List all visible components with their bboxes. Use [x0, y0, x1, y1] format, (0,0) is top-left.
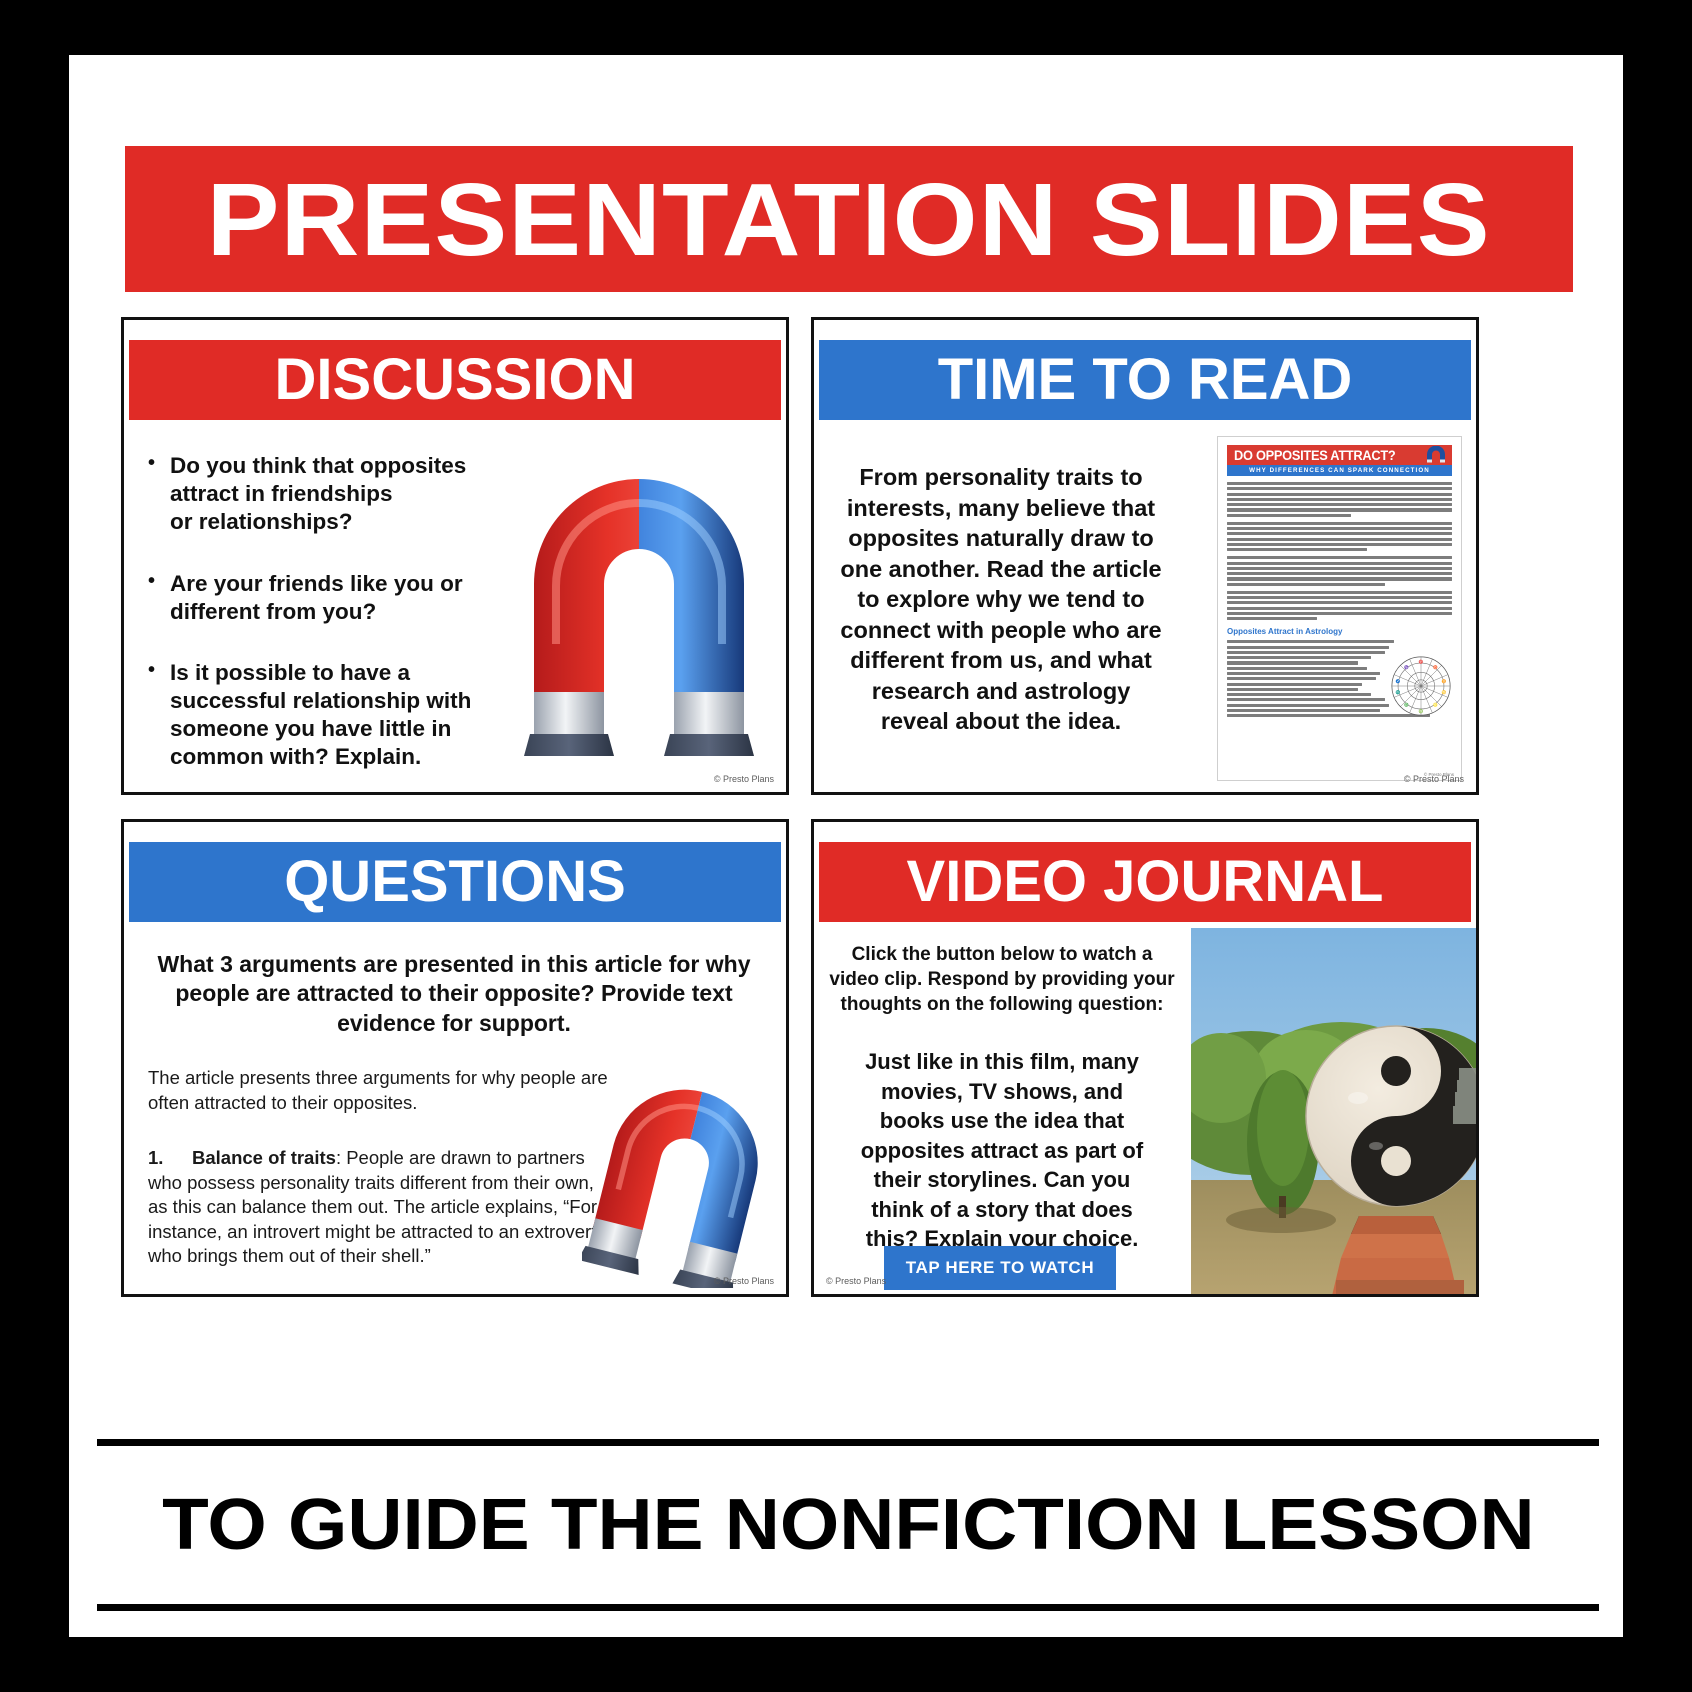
slide-video-journal[interactable]: VIDEO JOURNAL Click the button below to …: [811, 819, 1479, 1297]
svg-text:♊: ♊: [1442, 679, 1447, 684]
article-paragraph: [1227, 591, 1452, 621]
bullet-line: someone you have little in: [170, 716, 451, 741]
slide-time-to-read[interactable]: TIME TO READ From personality traits to …: [811, 317, 1479, 795]
svg-text:♉: ♉: [1433, 665, 1438, 670]
bullet-line: or relationships?: [170, 509, 353, 534]
article-headline-bar: DO OPPOSITES ATTRACT?: [1227, 445, 1452, 465]
yin-yang-sculpture-photo: [1191, 928, 1476, 1297]
tap-here-to-watch-button[interactable]: TAP HERE TO WATCH: [884, 1246, 1116, 1290]
slide-questions-body: What 3 arguments are presented in this a…: [124, 928, 786, 1294]
horseshoe-magnet-icon: [504, 434, 774, 764]
bullet-line: attract in friendships: [170, 481, 393, 506]
slides-grid: DISCUSSION Do you think that opposites a…: [121, 317, 1577, 1345]
article-magnet-icon: [1424, 446, 1448, 463]
questions-answer-item: 1. Balance of traits: People are drawn t…: [148, 1146, 618, 1269]
bullet-line: different from you?: [170, 599, 376, 624]
slide-time-to-read-title: TIME TO READ: [938, 351, 1353, 409]
slide-discussion[interactable]: DISCUSSION Do you think that opposites a…: [121, 317, 789, 795]
watermark: © Presto Plans: [826, 1276, 886, 1286]
discussion-bullet-1: Do you think that opposites attract in f…: [146, 452, 486, 536]
article-body: Opposites Attract in Astrology: [1227, 482, 1452, 717]
bullet-line: successful relationship with: [170, 688, 471, 713]
svg-text:♍: ♍: [1419, 709, 1424, 714]
discussion-bullet-list: Do you think that opposites attract in f…: [146, 452, 486, 795]
slide-time-to-read-header: TIME TO READ: [819, 340, 1471, 420]
slide-discussion-header: DISCUSSION: [129, 340, 781, 420]
slide-discussion-body: Do you think that opposites attract in f…: [124, 426, 786, 792]
svg-text:♏: ♏: [1396, 690, 1401, 695]
bullet-line: common with? Explain.: [170, 744, 421, 769]
slide-questions-title: QUESTIONS: [284, 853, 626, 911]
article-headline: DO OPPOSITES ATTRACT?: [1234, 448, 1395, 463]
bullet-line: Is it possible to have a: [170, 660, 410, 685]
article-paragraph: [1227, 482, 1452, 517]
slide-video-journal-body: Click the button below to watch a video …: [814, 928, 1476, 1294]
slide-discussion-title: DISCUSSION: [275, 351, 636, 409]
poster-inner: PRESENTATION SLIDES DISCUSSION Do you th…: [83, 69, 1613, 1627]
watermark: © Presto Plans: [714, 774, 774, 784]
poster-frame: PRESENTATION SLIDES DISCUSSION Do you th…: [66, 52, 1626, 1640]
slide-questions[interactable]: QUESTIONS What 3 arguments are presented…: [121, 819, 789, 1297]
answer-body: Balance of traits: People are drawn to p…: [148, 1147, 597, 1266]
answer-label: Balance of traits: [192, 1147, 336, 1168]
svg-text:♑: ♑: [1404, 665, 1409, 670]
watermark: © Presto Plans: [714, 1276, 774, 1286]
slide-questions-header: QUESTIONS: [129, 842, 781, 922]
svg-text:♎: ♎: [1404, 702, 1409, 707]
svg-text:♐: ♐: [1396, 679, 1401, 684]
top-banner: PRESENTATION SLIDES: [125, 146, 1573, 292]
bullet-line: Do you think that opposites: [170, 453, 466, 478]
article-paragraph: [1227, 522, 1452, 552]
video-journal-text-column: Click the button below to watch a video …: [828, 942, 1176, 1254]
top-banner-title: PRESENTATION SLIDES: [207, 168, 1491, 271]
zodiac-wheel-icon: ♈♉ ♊♋ ♌♍ ♎♏ ♐♑: [1390, 655, 1452, 717]
horseshoe-magnet-icon: [582, 1058, 782, 1288]
video-journal-lead: Click the button below to watch a video …: [828, 942, 1176, 1017]
watermark: © Presto Plans: [1404, 774, 1464, 784]
svg-text:♋: ♋: [1442, 690, 1447, 695]
questions-prompt: What 3 arguments are presented in this a…: [154, 950, 754, 1038]
discussion-bullet-2: Are your friends like you or different f…: [146, 570, 486, 626]
video-journal-question: Just like in this film, many movies, TV …: [828, 1047, 1176, 1253]
slide-video-journal-title: VIDEO JOURNAL: [907, 853, 1384, 911]
answer-number: 1.: [148, 1146, 163, 1171]
bottom-banner: TO GUIDE THE NONFICTION LESSON: [97, 1439, 1599, 1611]
bottom-banner-title: TO GUIDE THE NONFICTION LESSON: [162, 1489, 1534, 1561]
svg-text:♈: ♈: [1419, 659, 1424, 664]
questions-intro: The article presents three arguments for…: [148, 1066, 618, 1115]
slide-video-journal-header: VIDEO JOURNAL: [819, 842, 1471, 922]
bullet-line: Are your friends like you or: [170, 571, 463, 596]
article-section-heading: Opposites Attract in Astrology: [1227, 627, 1452, 636]
article-paragraph: [1227, 556, 1452, 586]
article-subheadline: WHY DIFFERENCES CAN SPARK CONNECTION: [1227, 465, 1452, 476]
time-to-read-paragraph: From personality traits to interests, ma…: [836, 462, 1166, 737]
article-thumbnail[interactable]: DO OPPOSITES ATTRACT? WHY DIFFERENCES CA…: [1217, 436, 1462, 781]
slide-time-to-read-body: From personality traits to interests, ma…: [814, 426, 1476, 792]
svg-text:♌: ♌: [1433, 702, 1438, 707]
discussion-bullet-3: Is it possible to have a successful rela…: [146, 659, 486, 771]
